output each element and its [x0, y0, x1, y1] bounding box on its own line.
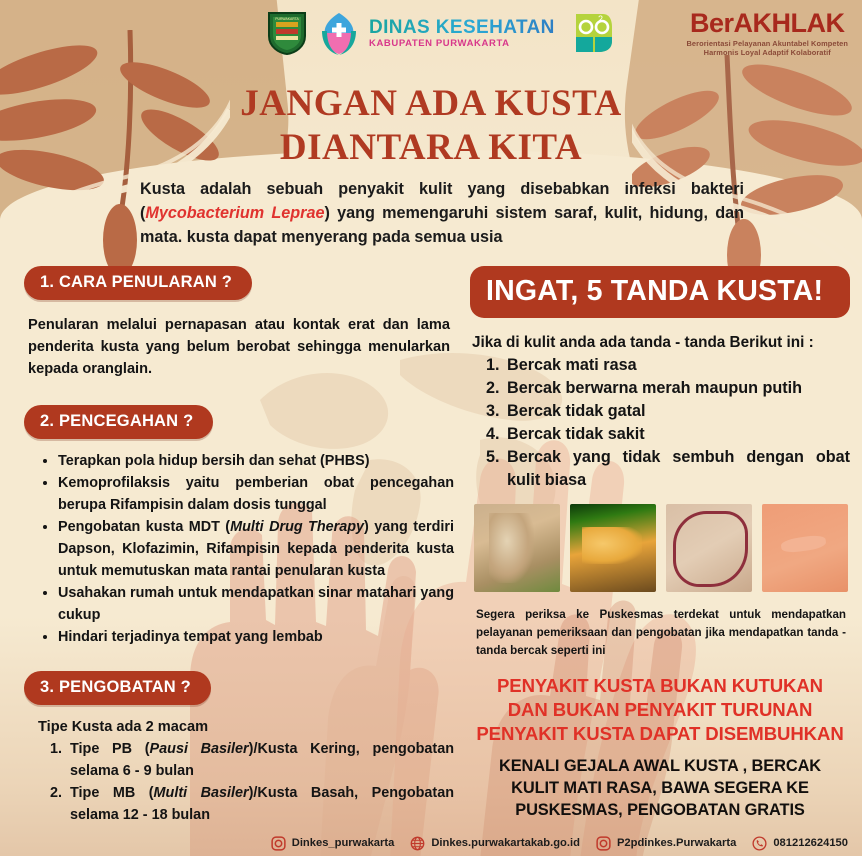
prevention-item-pre: Pengobatan kusta MDT (	[58, 519, 230, 535]
prevention-item: Usahakan rumah untuk mendapatkan sinar m…	[58, 583, 454, 626]
treatment-item-pre: Tipe MB (	[70, 785, 154, 801]
sign-item: Bercak berwarna merah maupun putih	[504, 377, 850, 400]
org-subtitle: KABUPATEN PURWAKARTA	[369, 39, 555, 49]
prevention-list: Terapkan pola hidup bersih dan sehat (PH…	[24, 451, 454, 649]
footer-instagram[interactable]: Dinkes_purwakarta	[271, 836, 395, 851]
sign-item: Bercak yang tidak sembuh dengan obat kul…	[504, 446, 850, 492]
left-column: 1. CARA PENULARAN ? Penularan melalui pe…	[24, 266, 454, 827]
intro-paragraph: Kusta adalah sebuah penyakit kulit yang …	[140, 178, 744, 250]
sign-item: Bercak tidak sakit	[504, 423, 850, 446]
berakhlak-title: BerAKHLAK	[686, 8, 848, 39]
svg-text:PURWAKARTA: PURWAKARTA	[275, 17, 299, 21]
treatment-subheading: Tipe Kusta ada 2 macam	[38, 719, 454, 735]
globe-icon	[410, 836, 425, 851]
poster-canvas: PURWAKARTA DINAS KESEHATAN KABUPATEN PUR…	[0, 0, 862, 856]
lesion-photo-strip	[474, 504, 850, 592]
footer-website-label: Dinkes.purwakartakab.go.id	[431, 837, 580, 849]
sign-item: Bercak tidak gatal	[504, 400, 850, 423]
slogan-red-line: PENYAKIT KUSTA BUKAN KUTUKAN	[470, 674, 850, 698]
photo-leprosy-lesion-2	[570, 504, 656, 592]
instagram-icon	[596, 836, 611, 851]
footer-phone[interactable]: 081212624150	[752, 836, 848, 851]
section-1-badge: 1. CARA PENULARAN ?	[24, 266, 252, 300]
berakhlak-values-line2: Harmonis Loyal Adaptif Kolaboratif	[686, 48, 848, 57]
photo-leprosy-lesion-3	[666, 504, 752, 592]
slogan-red-block: PENYAKIT KUSTA BUKAN KUTUKAN DAN BUKAN P…	[470, 674, 850, 747]
title-line-1: JANGAN ADA KUSTA	[0, 82, 862, 126]
section-transmission: 1. CARA PENULARAN ? Penularan melalui pe…	[24, 266, 454, 381]
slogan-black-line: PUSKESMAS, PENGOBATAN GRATIS	[470, 800, 850, 822]
section-treatment: 3. PENGOBATAN ? Tipe Kusta ada 2 macam T…	[24, 671, 454, 826]
berakhlak-values-line1: Berorientasi Pelayanan Akuntabel Kompete…	[686, 39, 848, 48]
section-2-badge: 2. PENCEGAHAN ?	[24, 405, 213, 439]
footer-instagram-label: Dinkes_purwakarta	[292, 837, 395, 849]
section-prevention: 2. PENCEGAHAN ? Terapkan pola hidup bers…	[24, 405, 454, 649]
berakhlak-logo: BerAKHLAK Berorientasi Pelayanan Akuntab…	[686, 8, 848, 58]
footer-website[interactable]: Dinkes.purwakartakab.go.id	[410, 836, 580, 851]
five-signs-lead: Jika di kulit anda ada tanda - tanda Ber…	[472, 334, 850, 352]
footer-instagram-p2p-label: P2pdinkes.Purwakarta	[617, 837, 736, 849]
treatment-item: Tipe MB (Multi Basiler)/Kusta Basah, Pen…	[66, 783, 454, 826]
prevention-item: Pengobatan kusta MDT (Multi Drug Therapy…	[58, 517, 454, 582]
photo-leprosy-lesion-1	[474, 504, 560, 592]
prevention-item-italic: Multi Drug Therapy	[230, 519, 364, 535]
section-3-badge: 3. PENGOBATAN ?	[24, 671, 211, 705]
clinic-advice-note: Segera periksa ke Puskesmas terdekat unt…	[476, 606, 846, 660]
slogan-black-line: KULIT MATI RASA, BAWA SEGERA KE	[470, 778, 850, 800]
treatment-item-italic: Multi Basiler	[154, 785, 249, 801]
purwakarta-regency-crest-icon: PURWAKARTA	[265, 10, 309, 56]
treatment-item-pre: Tipe PB (	[70, 741, 150, 757]
slogan-black-block: KENALI GEJALA AWAL KUSTA , BERCAK KULIT …	[470, 756, 850, 821]
section-1-body: Penularan melalui pernapasan atau kontak…	[28, 314, 450, 381]
five-signs-headline: INGAT, 5 TANDA KUSTA!	[470, 266, 850, 318]
prevention-item: Terapkan pola hidup bersih dan sehat (PH…	[58, 451, 454, 473]
sign-item: Bercak mati rasa	[504, 354, 850, 377]
dinas-kesehatan-logo-icon	[319, 11, 359, 55]
photo-leprosy-lesion-4	[762, 504, 848, 592]
footer-phone-label: 081212624150	[773, 837, 848, 849]
treatment-item-italic: Pausi Basiler	[150, 741, 249, 757]
right-column: INGAT, 5 TANDA KUSTA! Jika di kulit anda…	[470, 266, 850, 821]
header-bar: PURWAKARTA DINAS KESEHATAN KABUPATEN PUR…	[0, 0, 862, 70]
svg-text:2: 2	[598, 14, 603, 24]
scientific-name: Mycobacterium Leprae	[145, 204, 324, 222]
title-line-2: DIANTARA KITA	[0, 126, 862, 170]
poster-title: JANGAN ADA KUSTA DIANTARA KITA	[0, 82, 862, 171]
slogan-red-line: DAN BUKAN PENYAKIT TURUNAN	[470, 698, 850, 722]
instagram-icon	[271, 836, 286, 851]
slogan-red-line: PENYAKIT KUSTA DAPAT DISEMBUHKAN	[470, 722, 850, 746]
p2p-logo-icon: 2	[573, 11, 615, 55]
slogan-black-line: KENALI GEJALA AWAL KUSTA , BERCAK	[470, 756, 850, 778]
prevention-item: Hindari terjadinya tempat yang lembab	[58, 627, 454, 649]
prevention-item: Kemoprofilaksis yaitu pemberian obat pen…	[58, 473, 454, 516]
five-signs-list: Bercak mati rasa Bercak berwarna merah m…	[470, 354, 850, 492]
footer-contact-bar: Dinkes_purwakarta Dinkes.purwakartakab.g…	[0, 830, 862, 856]
org-name-block: DINAS KESEHATAN KABUPATEN PURWAKARTA	[369, 18, 555, 49]
phone-icon	[752, 836, 767, 851]
org-title: DINAS KESEHATAN	[369, 18, 555, 37]
treatment-list: Tipe PB (Pausi Basiler)/Kusta Kering, pe…	[24, 739, 454, 826]
treatment-item: Tipe PB (Pausi Basiler)/Kusta Kering, pe…	[66, 739, 454, 782]
logo-row: PURWAKARTA DINAS KESEHATAN KABUPATEN PUR…	[265, 10, 615, 56]
footer-instagram-p2p[interactable]: P2pdinkes.Purwakarta	[596, 836, 736, 851]
